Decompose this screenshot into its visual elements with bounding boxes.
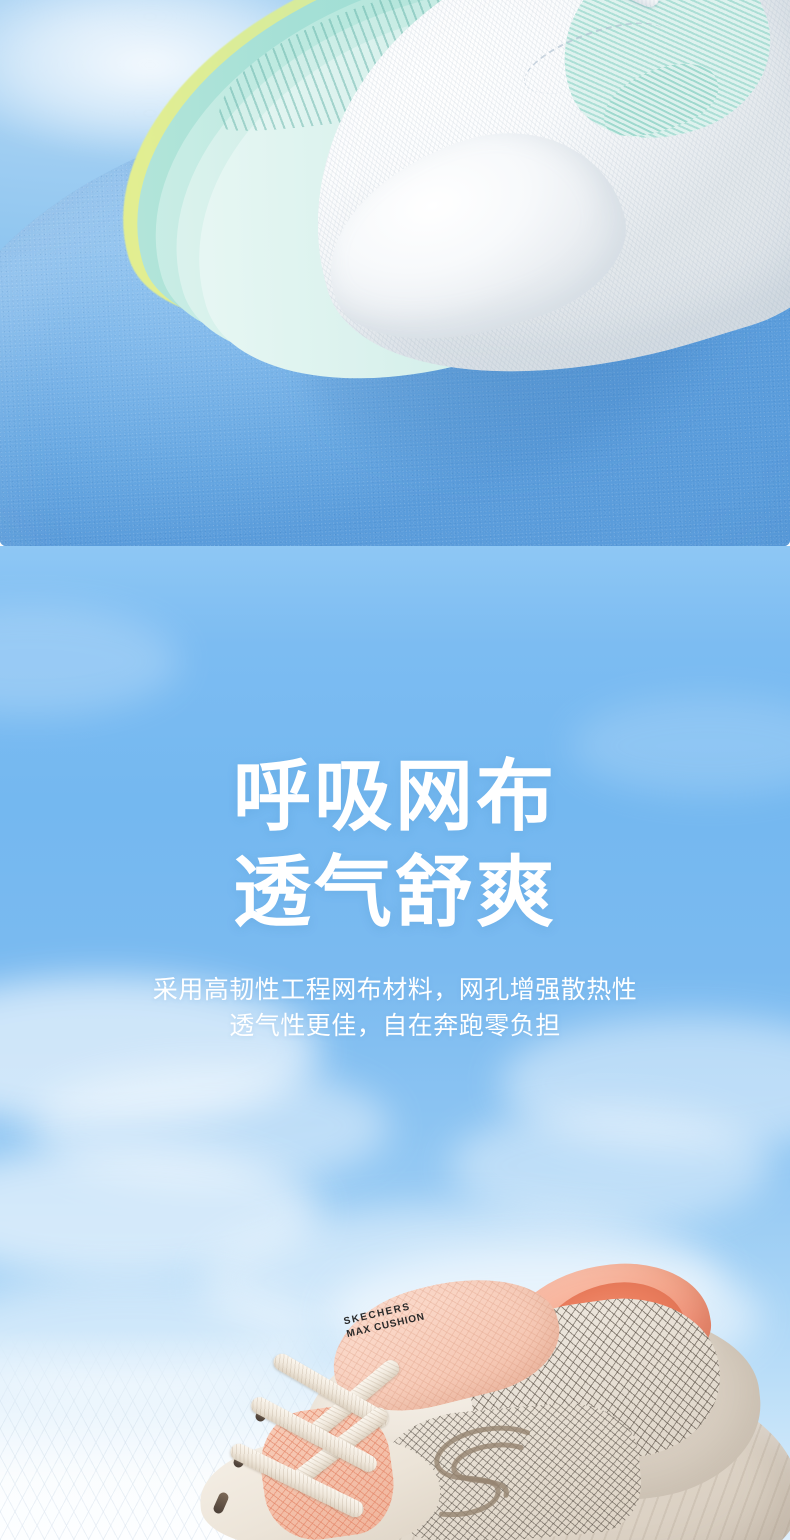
white-mint-running-shoe: MAX CUSHION bbox=[0, 0, 790, 370]
shoe-hero-top-panel: MAX CUSHION bbox=[0, 0, 790, 546]
subtitle-line-1: 采用高韧性工程网布材料，网孔增强散热性 bbox=[0, 972, 790, 1008]
headline-line-2: 透气舒爽 bbox=[0, 844, 790, 940]
headline-block: 呼吸网布 透气舒爽 bbox=[0, 748, 790, 940]
cloud bbox=[0, 606, 180, 716]
subtitle-block: 采用高韧性工程网布材料，网孔增强散热性 透气性更佳，自在奔跑零负担 bbox=[0, 972, 790, 1044]
cream-pink-running-shoe: SKECHERS MAX CUSHION bbox=[0, 1240, 790, 1540]
product-detail-page: MAX CUSHION 呼吸网布 透气舒爽 bbox=[0, 0, 790, 1540]
headline-line-1: 呼吸网布 bbox=[0, 748, 790, 844]
subtitle-line-2: 透气性更佳，自在奔跑零负担 bbox=[0, 1008, 790, 1044]
